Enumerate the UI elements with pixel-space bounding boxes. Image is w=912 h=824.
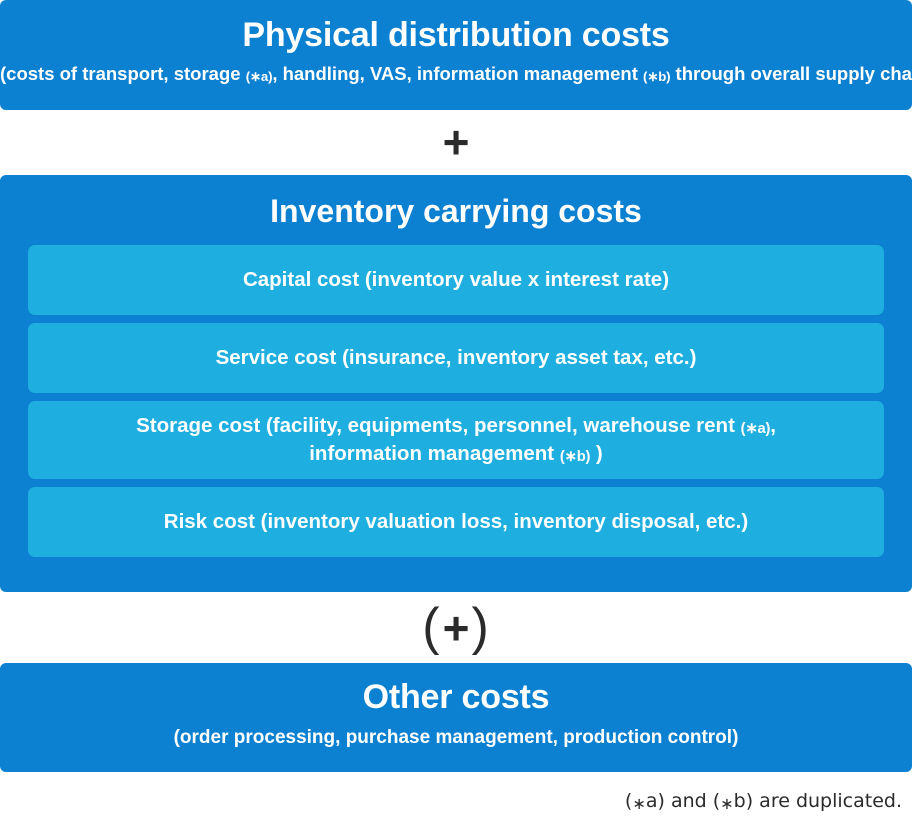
risk-cost-text: Risk cost (inventory valuation loss, inv… (164, 508, 748, 535)
footnote-ref-b-inline: (∗b) (643, 69, 670, 84)
storage-cost-line1-pre: Storage cost (facility, equipments, pers… (136, 414, 741, 437)
open-paren: ( (422, 598, 440, 656)
footnote-ref-a-inline: (∗a) (246, 69, 273, 84)
footnote-duplication-note: (∗a) and (∗b) are duplicated. (625, 790, 902, 813)
footnote-star-1: ∗ (632, 794, 646, 813)
inventory-item-capital-cost: Capital cost (inventory value x interest… (28, 245, 884, 315)
other-costs-title: Other costs (0, 663, 912, 716)
inventory-carrying-costs-box: Inventory carrying costs Capital cost (i… (0, 175, 912, 592)
footnote-ref-a-storage: (∗a) (741, 422, 771, 438)
footnote-part3: b) are duplicated. (734, 790, 902, 812)
plus-symbol-2: + (441, 602, 472, 654)
other-costs-subtitle: (order processing, purchase management, … (0, 716, 912, 750)
storage-cost-line2-post: ) (590, 442, 603, 465)
footnote-star-2: ∗ (720, 794, 734, 813)
storage-cost-text: Storage cost (facility, equipments, pers… (136, 412, 776, 467)
physical-subtitle-part1: (costs of transport, storage (0, 63, 246, 84)
inventory-item-risk-cost: Risk cost (inventory valuation loss, inv… (28, 487, 884, 557)
capital-cost-text: Capital cost (inventory value x interest… (243, 266, 669, 293)
plus-operator-2-parenthesized: (+) (0, 592, 912, 663)
storage-cost-line2-pre: information management (309, 442, 560, 465)
footnote-part2: a) and ( (646, 790, 720, 812)
inventory-item-storage-cost: Storage cost (facility, equipments, pers… (28, 401, 884, 479)
physical-distribution-subtitle: (costs of transport, storage (∗a), handl… (0, 54, 912, 86)
service-cost-text: Service cost (insurance, inventory asset… (216, 344, 697, 371)
inventory-carrying-header: Inventory carrying costs (0, 175, 912, 242)
physical-subtitle-part3: through overall supply chain) (670, 63, 912, 84)
footnote-ref-b-storage: (∗b) (560, 449, 590, 465)
inventory-item-service-cost: Service cost (insurance, inventory asset… (28, 323, 884, 393)
logistics-cost-diagram: Physical distribution costs (costs of tr… (0, 0, 912, 824)
plus-operator-1: + (0, 110, 912, 175)
physical-distribution-title: Physical distribution costs (0, 0, 912, 54)
storage-cost-line1-post: , (770, 414, 776, 437)
physical-distribution-costs-box: Physical distribution costs (costs of tr… (0, 0, 912, 110)
close-paren: ) (471, 598, 489, 656)
other-costs-box: Other costs (order processing, purchase … (0, 663, 912, 772)
inventory-cost-items-list: Capital cost (inventory value x interest… (28, 245, 884, 565)
physical-subtitle-part2: , handling, VAS, information management (272, 63, 643, 84)
plus-symbol: + (443, 116, 470, 168)
